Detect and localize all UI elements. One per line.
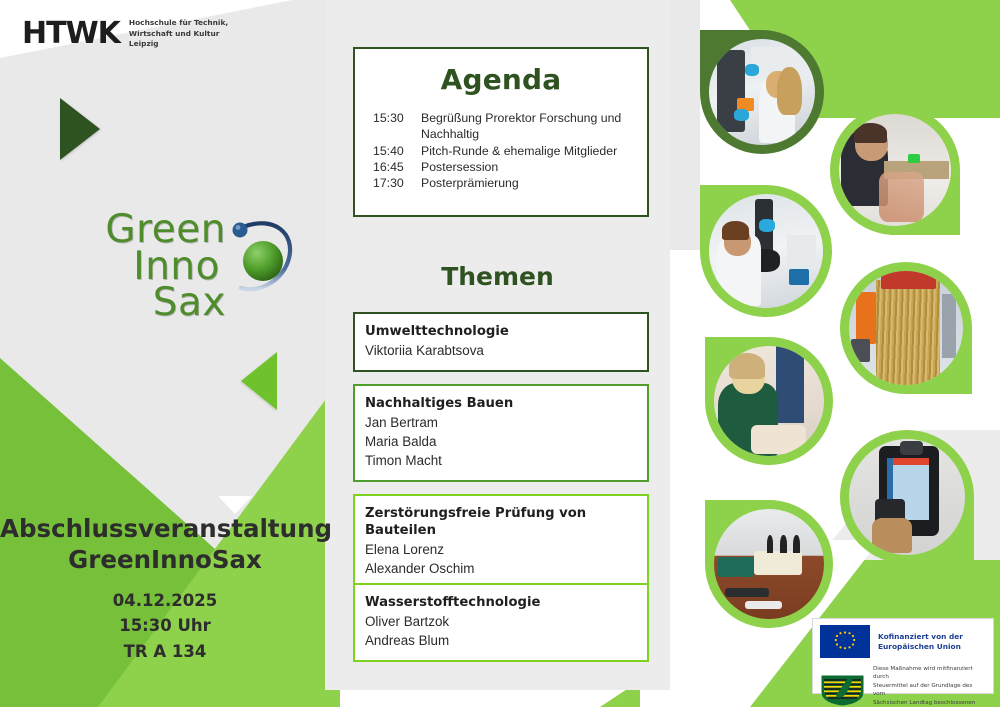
photo-detail [759, 219, 775, 232]
agenda-item-text: Posterprämierung [421, 175, 647, 191]
photo-detail [793, 535, 800, 553]
eu-funding-line-2: Europäischen Union [878, 642, 963, 652]
topic-heading: Nachhaltiges Bauen [365, 395, 637, 412]
topic-person: Viktoriia Karabtsova [365, 341, 637, 360]
topic-box[interactable]: Nachhaltiges BauenJan BertramMaria Balda… [353, 384, 649, 482]
photo-inner [714, 509, 824, 619]
agenda-item-text: Postersession [421, 159, 647, 175]
photo-inner [709, 194, 823, 308]
photo-detail [872, 518, 911, 553]
agenda-item-text: Begrüßung Prorektor Forschung und Nachha… [421, 110, 647, 143]
photo-detail [722, 221, 749, 239]
topic-box[interactable]: UmwelttechnologieViktoriia Karabtsova [353, 312, 649, 372]
agenda-item-time: 17:30 [373, 175, 421, 191]
funding-logos: Kofinanziert von der Europäischen Union [812, 618, 994, 694]
saxony-coat-of-arms-icon [820, 675, 865, 706]
photo-detail [856, 292, 877, 344]
photo-lab-technician-pipetting [700, 30, 824, 154]
agenda-item: 15:40Pitch-Runde & ehemalige Mitglieder [373, 143, 647, 159]
agenda-title: Agenda [355, 63, 647, 96]
event-title-line-1: Abschlussveranstaltung [0, 514, 330, 545]
photo-detail [734, 109, 749, 121]
topic-heading: Wasserstofftechnologie [365, 594, 637, 611]
photo-detail [780, 535, 787, 553]
photo-detail [777, 67, 802, 116]
greeninnosax-wordmark: Green Inno Sax [58, 212, 226, 322]
htwk-wordmark: HTWK [22, 19, 120, 49]
photo-detail [887, 458, 929, 465]
eu-funding-row: Kofinanziert von der Europäischen Union [820, 625, 986, 658]
saxony-funding-line-3: Sächsischen Landtag beschlossenen Hausha… [873, 699, 986, 707]
topic-heading: Zerstörungsfreie Prüfung von Bauteilen [365, 505, 637, 539]
photo-researcher-at-testing-machine [700, 185, 832, 317]
photo-straw-insulation-test-rig [840, 262, 972, 394]
agenda-item: 16:45Postersession [373, 159, 647, 175]
photo-detail [736, 557, 754, 577]
event-date: 04.12.2025 [0, 588, 330, 614]
photo-inner [849, 271, 963, 385]
photo-detail [751, 425, 806, 454]
poster-canvas: HTWK Hochschule für Technik, Wirtschaft … [0, 0, 1000, 707]
saxony-funding-text: Diese Maßnahme wird mitfinanziert durch … [873, 665, 986, 707]
topic-box[interactable]: WasserstofftechnologieOliver BartzokAndr… [353, 583, 649, 662]
eu-stars-icon [820, 625, 870, 658]
photo-electronics-measurement-setup [705, 500, 833, 628]
photo-inner [849, 439, 965, 555]
saxony-funding-row: Diese Maßnahme wird mitfinanziert durch … [820, 665, 986, 707]
photo-detail [942, 294, 956, 358]
photo-detail [754, 551, 802, 575]
event-meta: 04.12.2025 15:30 Uhr TR A 134 [0, 588, 330, 665]
photo-detail [745, 601, 782, 609]
photo-detail [789, 269, 810, 285]
photo-detail [718, 557, 736, 577]
eu-funding-line-1: Kofinanziert von der [878, 632, 963, 642]
agenda-item-time: 15:30 [373, 110, 421, 143]
photo-detail [908, 154, 919, 163]
greeninnosax-logo: Green Inno Sax [58, 212, 288, 324]
topic-person: Timon Macht [365, 451, 637, 470]
event-time: 15:30 Uhr [0, 613, 330, 639]
photo-handheld-thermal-scanner [840, 430, 974, 564]
agenda-list: 15:30Begrüßung Prorektor Forschung und N… [355, 110, 647, 192]
photo-student-in-green-coat-at-bench [705, 337, 833, 465]
photo-detail [725, 588, 769, 597]
event-room: TR A 134 [0, 639, 330, 665]
photo-inner [709, 39, 815, 145]
topic-person: Maria Balda [365, 432, 637, 451]
photo-detail [876, 280, 940, 385]
eu-funding-text: Kofinanziert von der Europäischen Union [878, 632, 963, 652]
htwk-subtitle: Hochschule für Technik, Wirtschaft und K… [129, 18, 237, 50]
event-info: Abschlussveranstaltung GreenInnoSax 04.1… [0, 514, 330, 664]
agenda-item: 17:30Posterprämierung [373, 175, 647, 191]
htwk-logo: HTWK Hochschule für Technik, Wirtschaft … [22, 18, 237, 50]
themen-title: Themen [325, 262, 670, 291]
eu-flag-icon [820, 625, 870, 658]
saxony-funding-line-1: Diese Maßnahme wird mitfinanziert durch [873, 665, 986, 682]
photo-detail [854, 123, 888, 143]
saxony-funding-line-2: Steuermittel auf der Grundlage des vom [873, 682, 986, 699]
topic-person: Oliver Bartzok [365, 612, 637, 631]
photo-detail [787, 235, 817, 269]
photo-detail [745, 64, 759, 76]
topic-person: Elena Lorenz [365, 540, 637, 559]
brand-line-3: Sax [58, 285, 226, 322]
agenda-item: 15:30Begrüßung Prorektor Forschung und N… [373, 110, 647, 143]
agenda-item-time: 16:45 [373, 159, 421, 175]
topic-box[interactable]: Zerstörungsfreie Prüfung von BauteilenEl… [353, 494, 649, 590]
agenda-item-time: 15:40 [373, 143, 421, 159]
dark-green-play-triangle-icon [60, 98, 100, 160]
event-title-line-2: GreenInnoSax [0, 545, 330, 576]
topic-person: Andreas Blum [365, 631, 637, 650]
photo-detail [776, 346, 805, 423]
atom-orbit-icon [223, 218, 295, 310]
topic-heading: Umwelttechnologie [365, 323, 637, 340]
photo-student-with-natural-fibre-panel [830, 105, 960, 235]
content-panel: Agenda 15:30Begrüßung Prorektor Forschun… [325, 0, 670, 690]
agenda-item-text: Pitch-Runde & ehemalige Mitglieder [421, 143, 647, 159]
photo-inner [714, 346, 824, 456]
topic-person: Jan Bertram [365, 413, 637, 432]
lime-left-triangle-icon [241, 352, 277, 410]
photo-inner [839, 114, 951, 226]
photo-detail [879, 172, 924, 221]
topic-person: Alexander Oschim [365, 559, 637, 578]
photo-detail [767, 535, 774, 553]
photo-detail [851, 339, 869, 362]
photo-detail [881, 271, 936, 289]
agenda-box: Agenda 15:30Begrüßung Prorektor Forschun… [353, 47, 649, 217]
photo-detail [729, 353, 764, 379]
photo-detail [900, 441, 923, 455]
